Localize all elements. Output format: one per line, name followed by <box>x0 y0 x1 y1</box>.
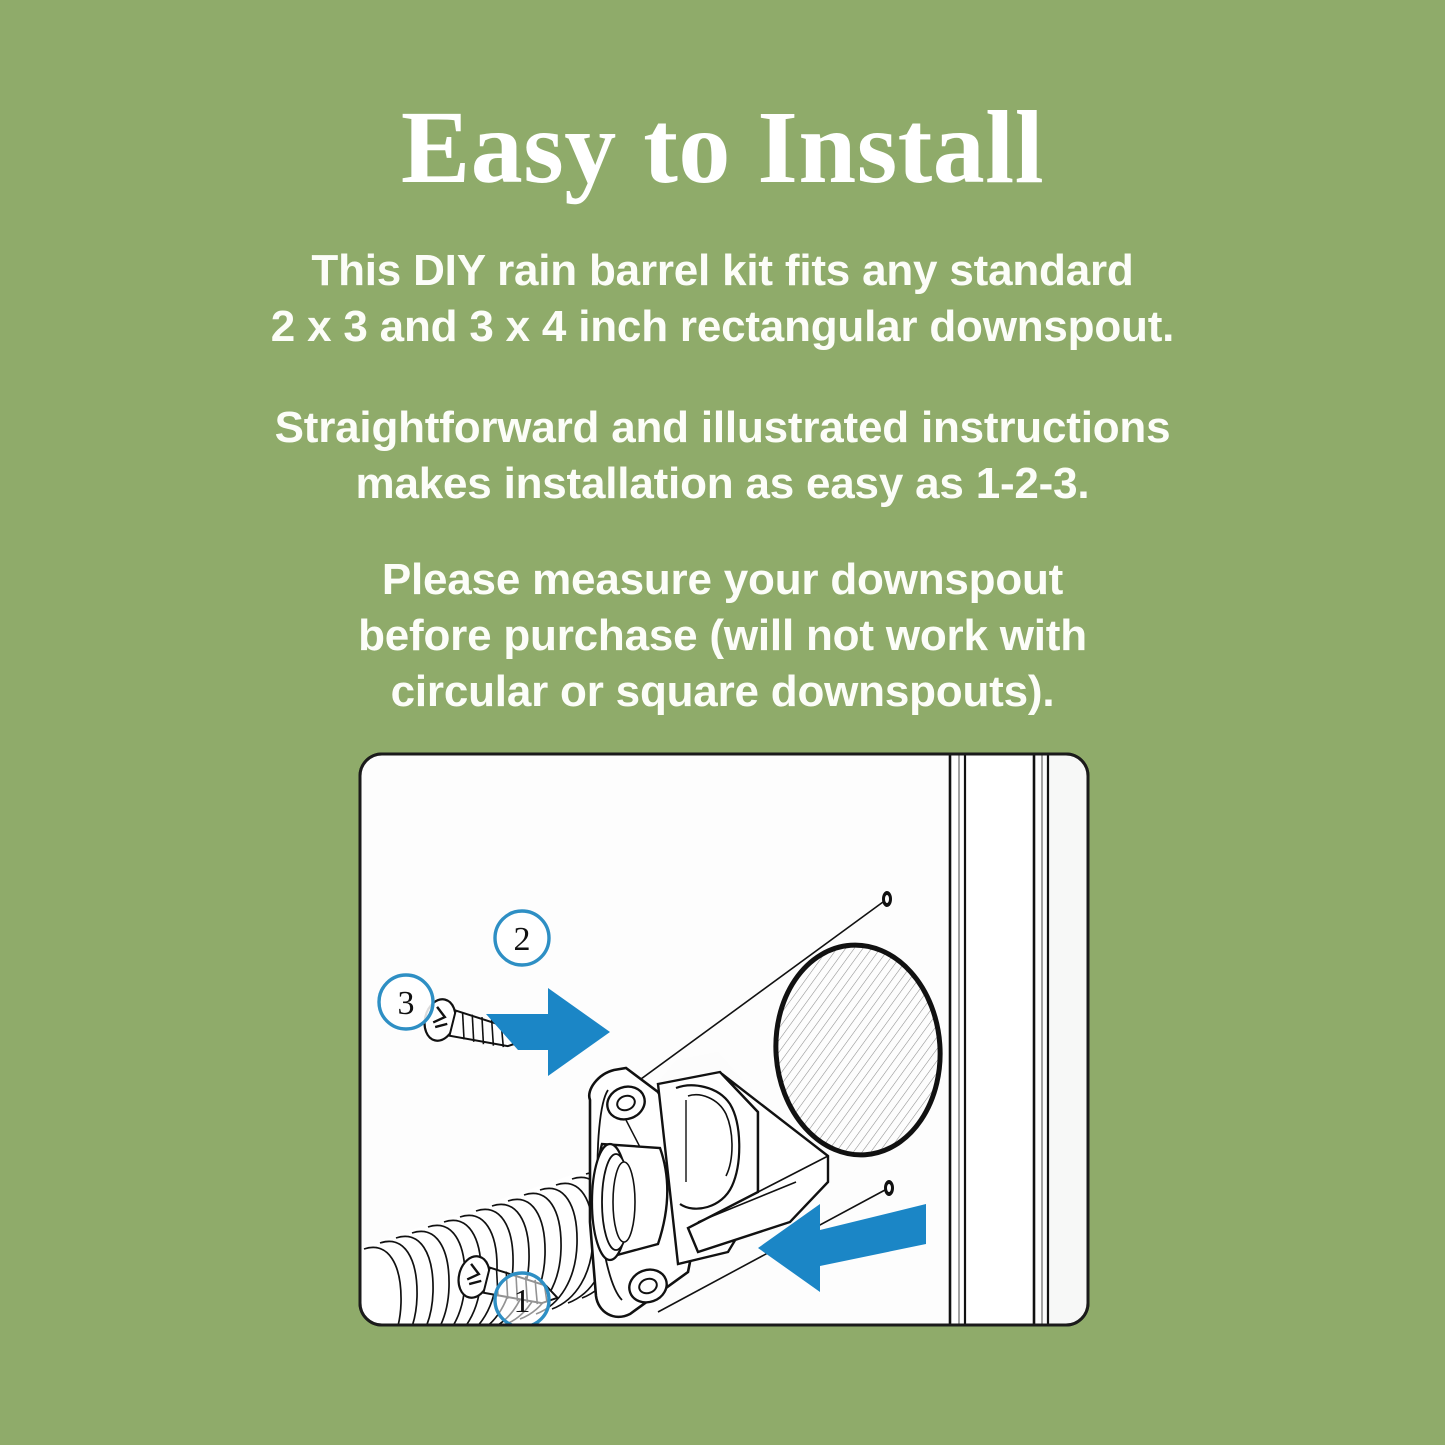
description-line: This DIY rain barrel kit fits any standa… <box>0 243 1445 299</box>
callout-badge-3[interactable]: 3 <box>379 975 433 1029</box>
description-line: 2 x 3 and 3 x 4 inch rectangular downspo… <box>0 299 1445 355</box>
downspout <box>950 752 1090 1327</box>
description-paragraph-2: Straightforward and illustrated instruct… <box>0 400 1445 512</box>
callout-badge-2[interactable]: 2 <box>495 911 549 965</box>
callout-label-1: 1 <box>514 1283 531 1320</box>
callout-badge-1[interactable]: 1 <box>495 1273 549 1327</box>
description-line: Please measure your downspout <box>0 552 1445 608</box>
description-line: makes installation as easy as 1-2-3. <box>0 456 1445 512</box>
installation-diagram: 1 2 3 <box>358 752 1090 1327</box>
easy-to-install-card: Easy to Install This DIY rain barrel kit… <box>0 0 1445 1445</box>
page-title: Easy to Install <box>0 96 1445 200</box>
description-line: circular or square downspouts). <box>0 664 1445 720</box>
description-paragraph-1: This DIY rain barrel kit fits any standa… <box>0 243 1445 355</box>
description-paragraph-3: Please measure your downspout before pur… <box>0 552 1445 720</box>
description-line: before purchase (will not work with <box>0 608 1445 664</box>
callout-label-2: 2 <box>514 921 531 958</box>
callout-label-3: 3 <box>398 985 415 1022</box>
description-line: Straightforward and illustrated instruct… <box>0 400 1445 456</box>
